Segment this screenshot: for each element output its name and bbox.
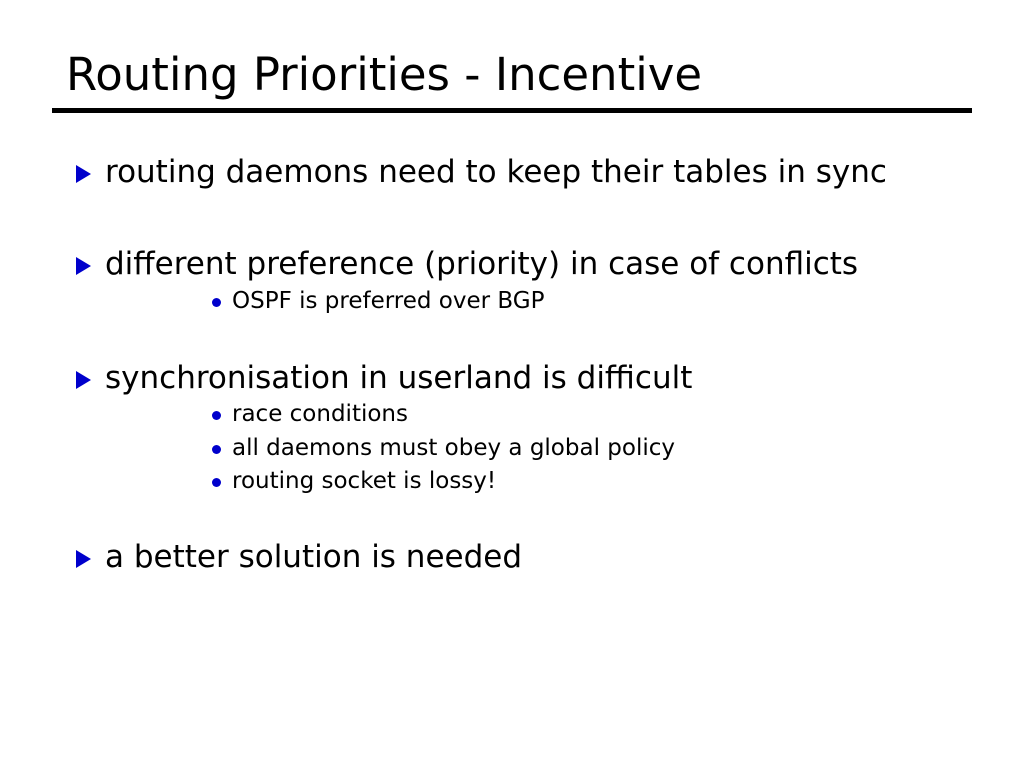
dot-bullet-icon <box>212 445 221 454</box>
triangle-bullet-icon <box>76 165 91 183</box>
bullet-text: a better solution is needed <box>105 537 1024 577</box>
sub-bullet-list: race conditions all daemons must obey a … <box>105 398 1024 498</box>
presentation-slide: Routing Priorities - Incentive routing d… <box>0 0 1024 768</box>
dot-bullet-icon <box>212 411 221 420</box>
sub-list-item: OSPF is preferred over BGP <box>105 285 1024 318</box>
triangle-bullet-icon <box>76 550 91 568</box>
sub-list-item: race conditions <box>105 398 1024 431</box>
page-title: Routing Priorities - Incentive <box>52 50 972 100</box>
sub-bullet-text: race conditions <box>232 398 1024 431</box>
dot-bullet-icon <box>212 298 221 307</box>
sub-bullet-list: OSPF is preferred over BGP <box>105 285 1024 318</box>
list-item: synchronisation in userland is difficult… <box>0 358 1024 498</box>
sub-list-item: routing socket is lossy! <box>105 465 1024 498</box>
triangle-bullet-icon <box>76 257 91 275</box>
list-item: routing daemons need to keep their table… <box>0 152 1024 192</box>
sub-list-item: all daemons must obey a global policy <box>105 432 1024 465</box>
title-underline-rule <box>52 108 972 113</box>
sub-bullet-text: routing socket is lossy! <box>232 465 1024 498</box>
dot-bullet-icon <box>212 478 221 487</box>
bullet-list: routing daemons need to keep their table… <box>0 152 1024 578</box>
slide-title-block: Routing Priorities - Incentive <box>52 50 972 113</box>
list-item: a better solution is needed <box>0 537 1024 577</box>
bullet-text: routing daemons need to keep their table… <box>105 152 1024 192</box>
sub-bullet-text: OSPF is preferred over BGP <box>232 285 1024 318</box>
slide-body: routing daemons need to keep their table… <box>0 152 1024 578</box>
triangle-bullet-icon <box>76 371 91 389</box>
bullet-text: different preference (priority) in case … <box>105 244 1024 284</box>
bullet-text: synchronisation in userland is difficult <box>105 358 1024 398</box>
list-item: different preference (priority) in case … <box>0 244 1024 318</box>
sub-bullet-text: all daemons must obey a global policy <box>232 432 1024 465</box>
